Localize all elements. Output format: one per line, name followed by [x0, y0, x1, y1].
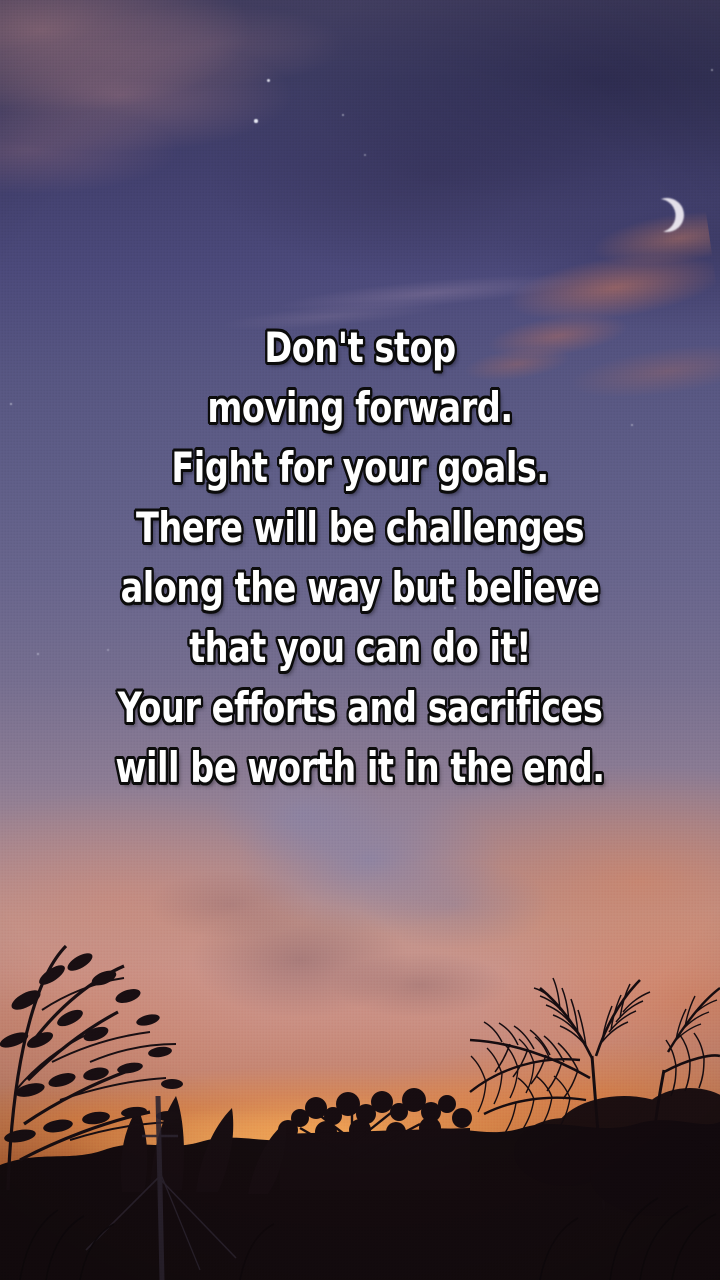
quote-line: Don't stop — [72, 318, 648, 378]
quote-line: Fight for your goals. — [72, 438, 648, 498]
quote-text-block: Don't stopmoving forward.Fight for your … — [0, 318, 720, 798]
quote-line: will be worth it in the end. — [72, 738, 648, 798]
quote-wallpaper: Don't stopmoving forward.Fight for your … — [0, 0, 720, 1280]
quote-line: Your efforts and sacrifices — [72, 678, 648, 738]
quote-line: along the way but believe — [72, 558, 648, 618]
quote-line: that you can do it! — [72, 618, 648, 678]
quote-line: There will be challenges — [72, 498, 648, 558]
quote-line: moving forward. — [72, 378, 648, 438]
